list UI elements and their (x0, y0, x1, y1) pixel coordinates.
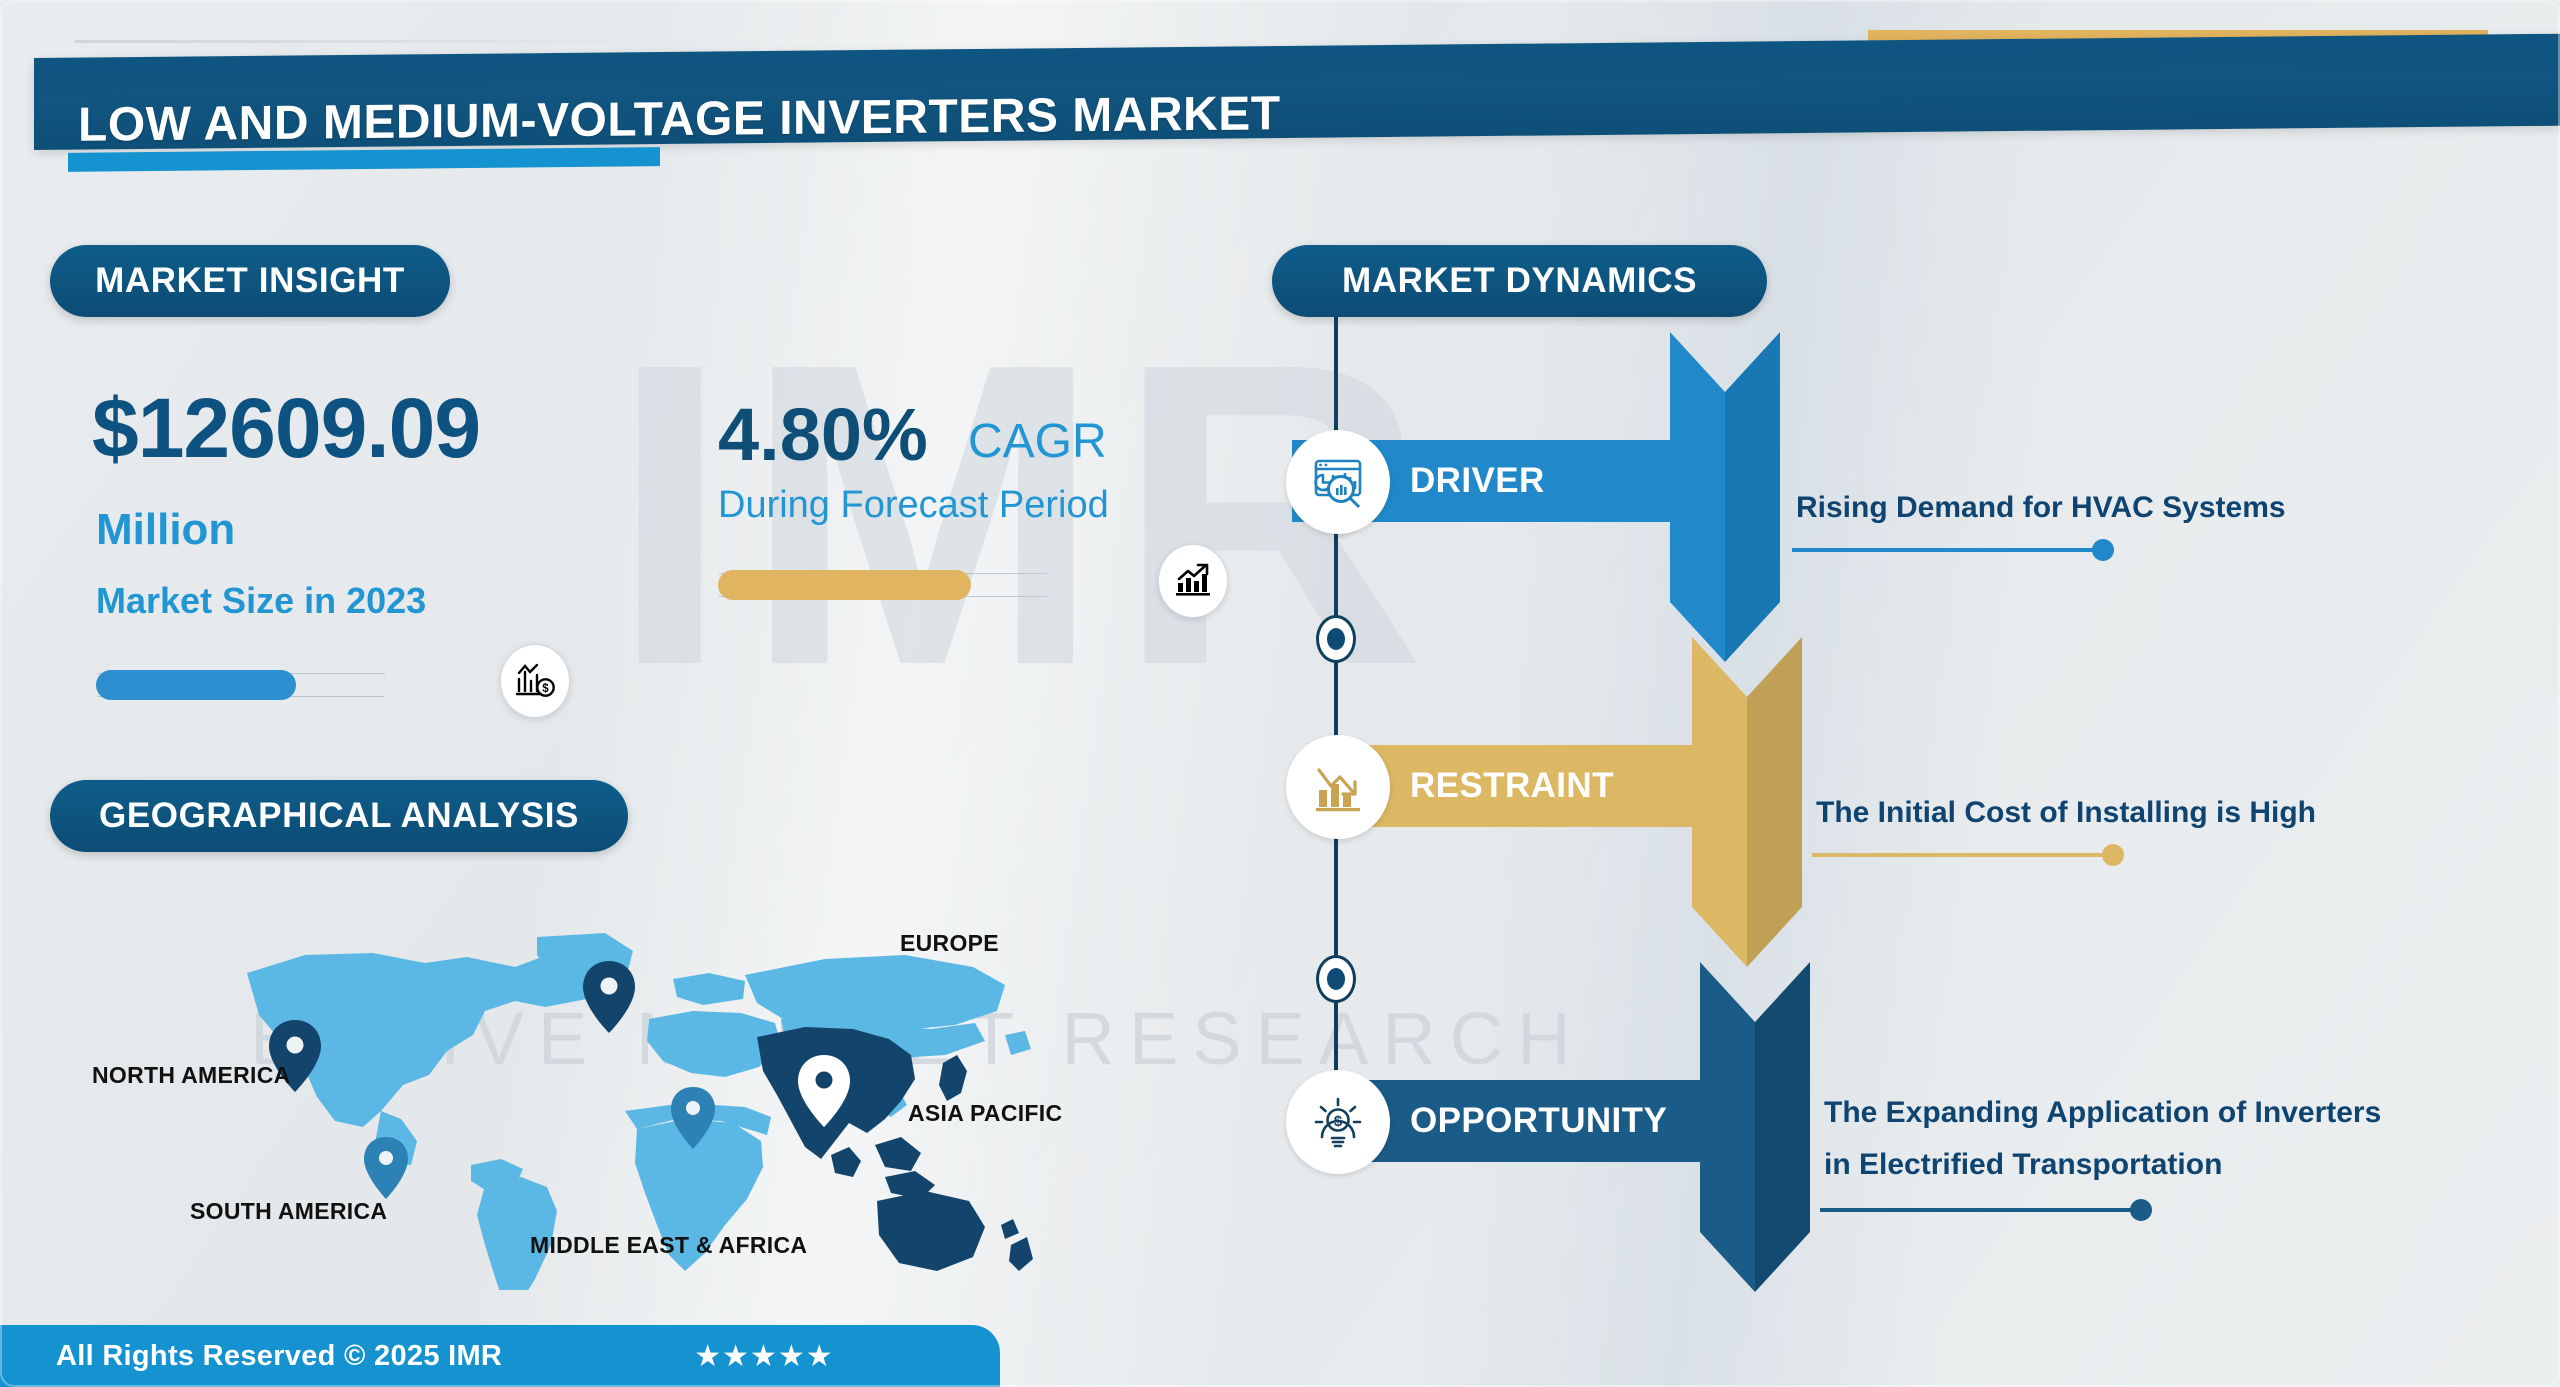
footer-copyright: All Rights Reserved © 2025 IMR (56, 1340, 502, 1373)
cagr-value: 4.80% (718, 392, 928, 477)
svg-text:$: $ (1334, 1113, 1343, 1130)
map-pin-south-america (364, 1137, 408, 1199)
driver-text: Rising Demand for HVAC Systems (1796, 487, 2286, 528)
dynamics-node-2 (1316, 955, 1356, 1003)
cagr-label: CAGR (968, 414, 1107, 469)
analytics-magnifier-icon (1286, 430, 1390, 534)
map-label-middle-east-africa: MIDDLE EAST & AFRICA (530, 1232, 807, 1259)
market-size-gauge: $ (96, 660, 466, 716)
gauge-fill (96, 670, 296, 700)
driver-label: DRIVER (1410, 461, 1545, 501)
gauge-fill (718, 570, 971, 600)
map-pin-europe (583, 961, 635, 1033)
market-insight-pill: MARKET INSIGHT (50, 245, 450, 317)
infographic-canvas: IMR ECTIVE MARKET RESEARCH LOW AND MEDIU… (0, 0, 2560, 1387)
opportunity-text-line-1: The Expanding Application of Inverters (1824, 1092, 2381, 1133)
map-label-asia-pacific: ASIA PACIFIC (908, 1100, 1062, 1127)
opportunity-label: OPPORTUNITY (1410, 1101, 1667, 1141)
rating-stars: ★★★★★ (694, 1339, 833, 1374)
restraint-label: RESTRAINT (1410, 766, 1614, 806)
map-label-south-america: SOUTH AMERICA (190, 1198, 387, 1225)
market-dynamics-pill-label: MARKET DYNAMICS (1342, 261, 1697, 301)
geographical-analysis-pill-label: GEOGRAPHICAL ANALYSIS (99, 796, 579, 836)
driver-ribbon (1670, 332, 1780, 662)
market-size-caption: Market Size in 2023 (96, 580, 426, 622)
market-size-unit: Million (96, 505, 235, 555)
restraint-connector-dot (2102, 844, 2124, 866)
growth-chart-arrow-icon (1158, 544, 1228, 618)
opportunity-connector-line (1820, 1208, 2140, 1212)
header-hairline (75, 40, 695, 43)
market-insight-pill-label: MARKET INSIGHT (95, 261, 405, 301)
declining-chart-icon (1286, 735, 1390, 839)
svg-text:$: $ (542, 683, 549, 695)
driver-connector-line (1792, 548, 2102, 552)
page-title: LOW AND MEDIUM-VOLTAGE INVERTERS MARKET (78, 86, 1281, 153)
map-label-north-america: NORTH AMERICA (92, 1062, 291, 1089)
bar-chart-dollar-icon: $ (500, 644, 570, 718)
dynamics-node-1 (1316, 615, 1356, 663)
opportunity-text-line-2: in Electrified Transportation (1824, 1144, 2222, 1185)
opportunity-connector-dot (2130, 1199, 2152, 1221)
driver-connector-dot (2092, 539, 2114, 561)
cagr-gauge (718, 560, 1138, 616)
market-dynamics-pill: MARKET DYNAMICS (1272, 245, 1767, 317)
footer-bar: All Rights Reserved © 2025 IMR ★★★★★ (0, 1325, 1000, 1387)
lightbulb-dollar-icon: $ (1286, 1070, 1390, 1174)
market-size-value: $12609.09 (92, 380, 480, 477)
restraint-text: The Initial Cost of Installing is High (1816, 792, 2316, 833)
cagr-subtitle: During Forecast Period (718, 484, 1109, 527)
restraint-connector-line (1812, 853, 2112, 857)
geographical-analysis-pill: GEOGRAPHICAL ANALYSIS (50, 780, 628, 852)
map-label-europe: EUROPE (900, 930, 999, 957)
